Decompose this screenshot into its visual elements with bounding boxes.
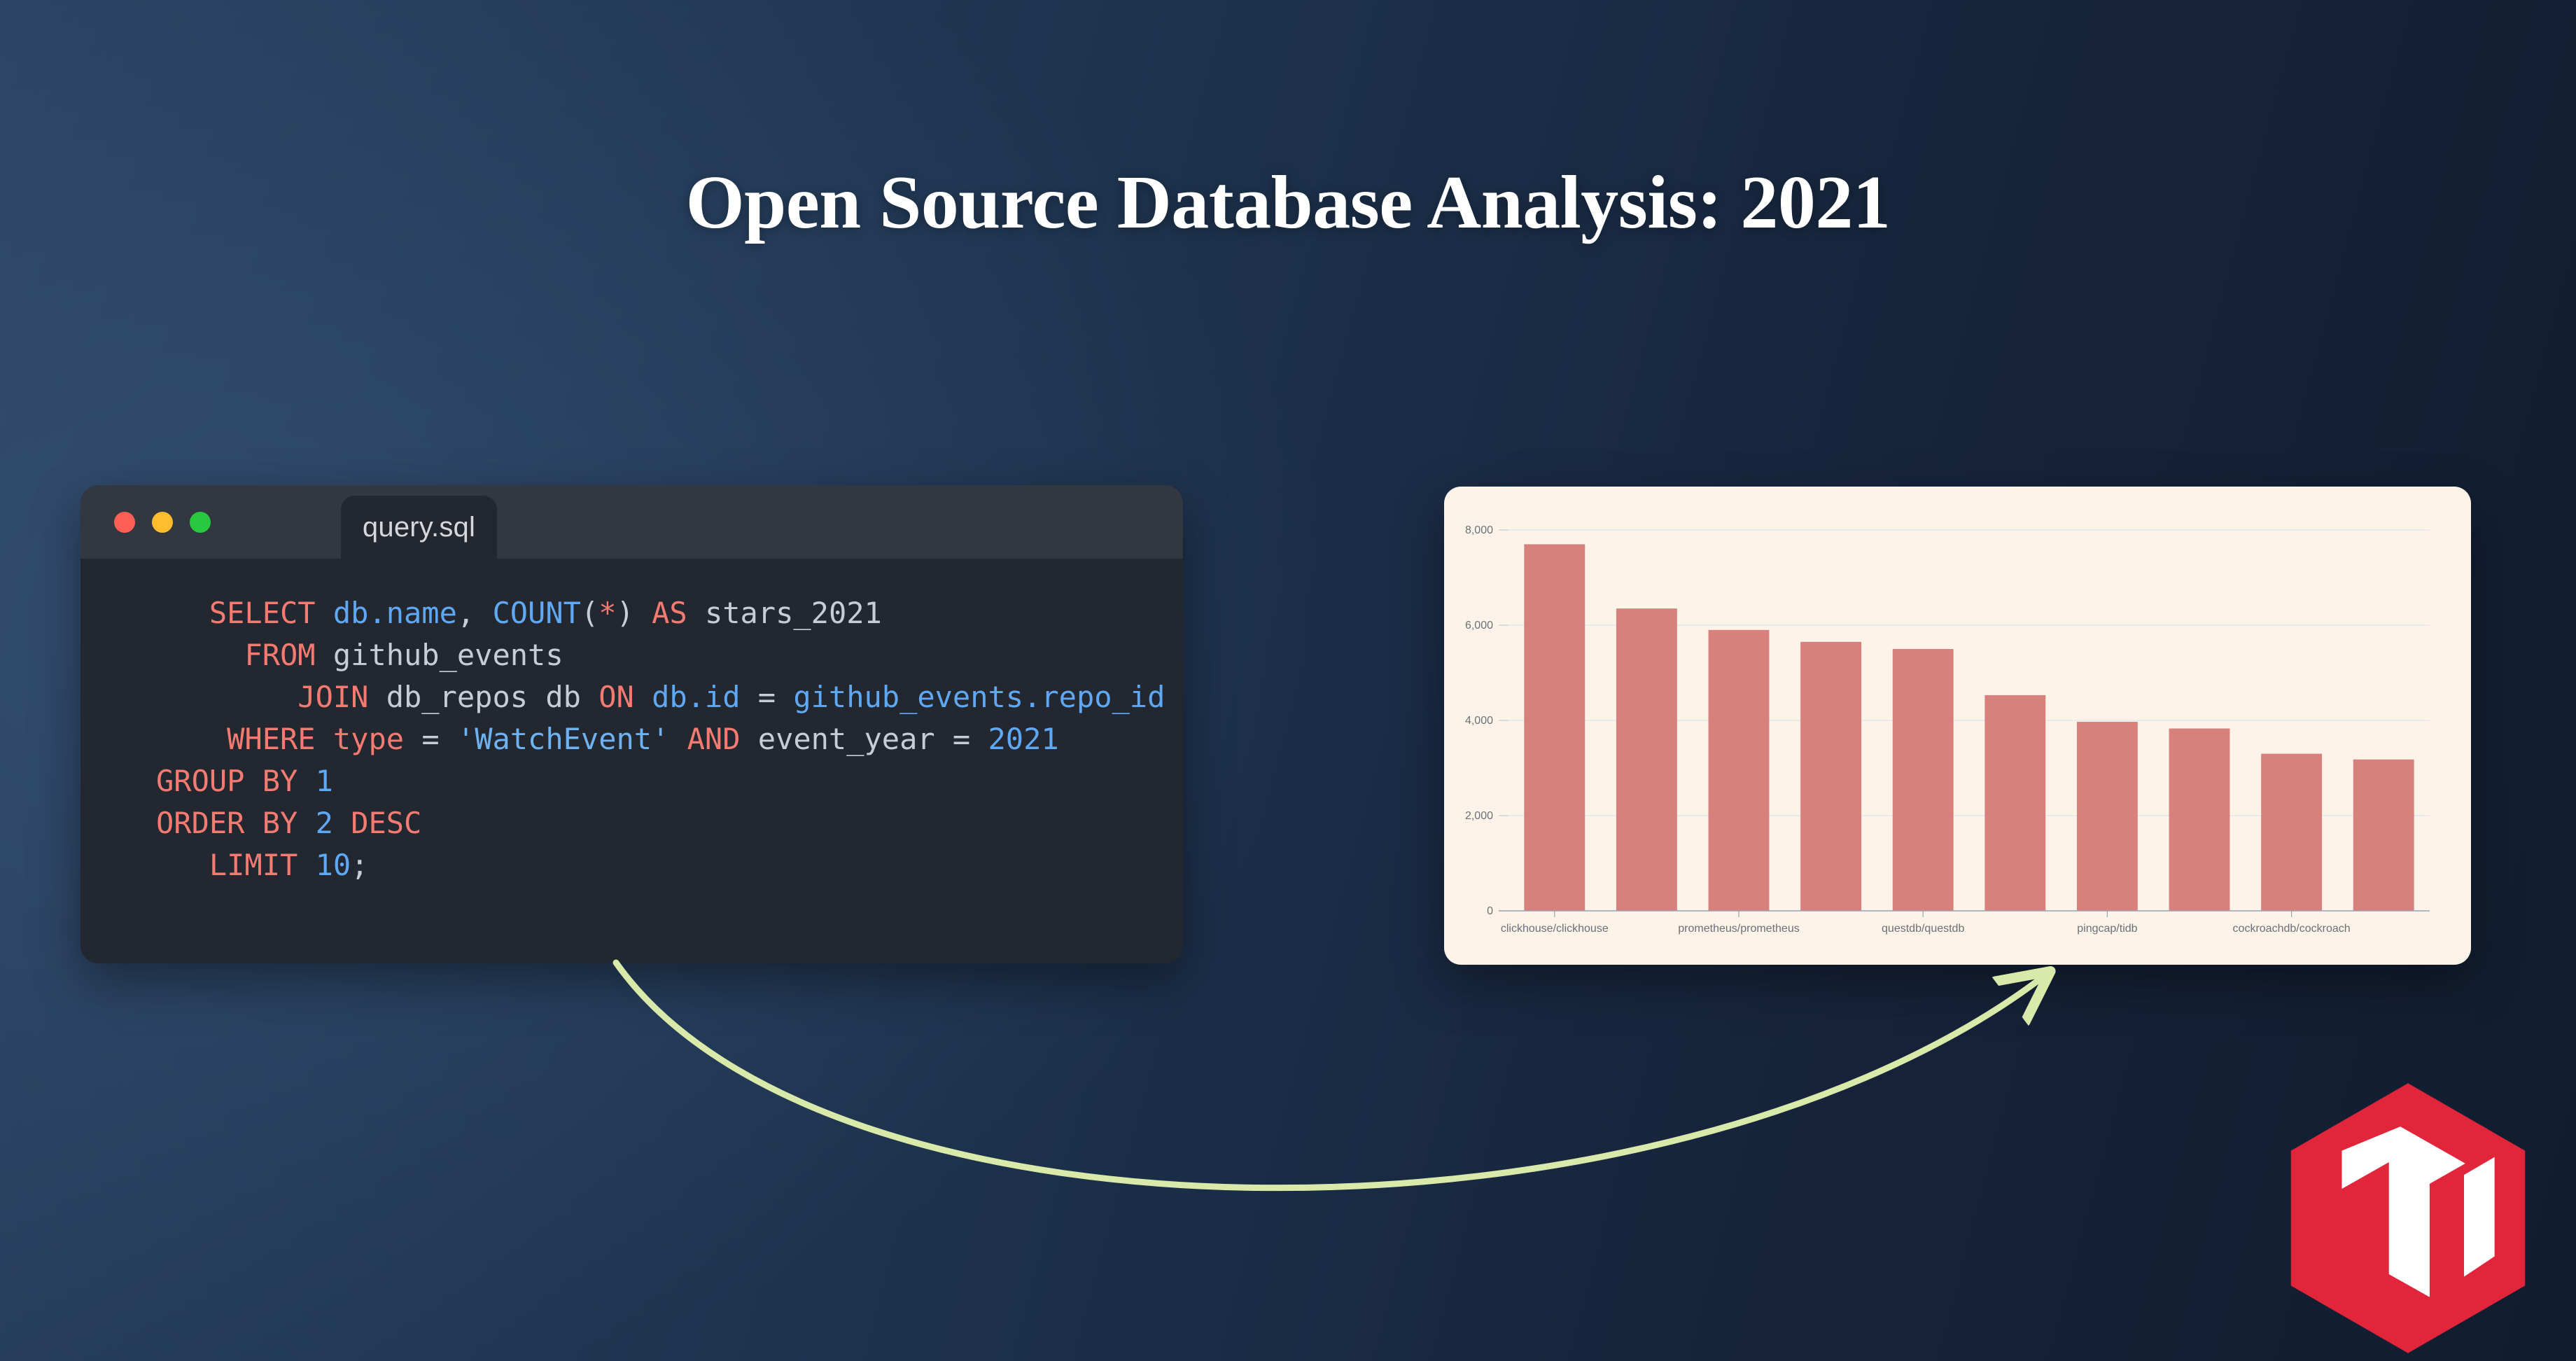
code-token <box>634 680 652 714</box>
chart-bar <box>1984 695 2045 911</box>
code-token: ) <box>617 596 652 630</box>
code-token: SELECT <box>209 596 316 630</box>
code-token <box>156 722 227 756</box>
code-token <box>156 596 209 630</box>
chart-bar <box>1524 544 1585 911</box>
code-token <box>297 764 315 798</box>
tidb-logo <box>2278 1078 2537 1358</box>
code-token: db.id <box>652 680 740 714</box>
code-token: FROM <box>244 638 315 672</box>
code-token <box>156 638 244 672</box>
chart-x-axis: clickhouse/clickhouseprometheus/promethe… <box>1499 911 2430 935</box>
code-token: WHERE <box>227 722 315 756</box>
chart-bar <box>2169 729 2230 911</box>
x-tick-label: cockroachdb/cockroach <box>2233 923 2351 935</box>
code-token <box>156 848 209 882</box>
code-token: JOIN <box>297 680 368 714</box>
y-tick-label: 8,000 <box>1465 524 1493 536</box>
code-token: github_events <box>316 638 563 672</box>
chart-bar <box>1616 608 1677 911</box>
code-token: 1 <box>316 764 333 798</box>
code-token: ON <box>598 680 634 714</box>
chart-bar <box>2077 722 2138 911</box>
code-token: GROUP BY <box>156 764 297 798</box>
chart-bar <box>1893 649 1954 911</box>
code-token: event_year = <box>741 722 988 756</box>
code-token: , <box>457 596 493 630</box>
chart-bar <box>2353 760 2414 911</box>
tab-label: query.sql <box>363 512 475 543</box>
code-token: 10 <box>316 848 351 882</box>
code-token: AS <box>652 596 687 630</box>
code-window-titlebar: query.sql <box>80 485 1183 559</box>
y-tick-label: 6,000 <box>1465 620 1493 631</box>
code-token: * <box>598 596 616 630</box>
code-token: github_events.repo_id <box>793 680 1165 714</box>
maximize-window-icon[interactable] <box>190 512 211 533</box>
chart-bar <box>2261 754 2322 911</box>
code-token: DESC <box>351 806 421 840</box>
y-tick-label: 4,000 <box>1465 715 1493 727</box>
code-token: stars_2021 <box>687 596 882 630</box>
tab-query-sql[interactable]: query.sql <box>341 496 497 559</box>
chart-bars <box>1524 544 2414 911</box>
x-tick-label: pingcap/tidb <box>2077 923 2137 935</box>
y-tick-label: 0 <box>1487 905 1493 917</box>
tidb-mark-i <box>2464 1157 2495 1277</box>
minimize-window-icon[interactable] <box>152 512 173 533</box>
code-token <box>297 806 315 840</box>
code-token: db.name <box>333 596 457 630</box>
code-token <box>156 680 297 714</box>
x-tick-label: clickhouse/clickhouse <box>1501 923 1609 935</box>
x-tick-label: questdb/questdb <box>1882 923 1964 935</box>
y-tick-label: 2,000 <box>1465 810 1493 822</box>
code-token: 'WatchEvent' <box>457 722 669 756</box>
code-editor-body[interactable]: SELECT db.name, COUNT(*) AS stars_2021 F… <box>80 559 1183 963</box>
code-token: = <box>741 680 794 714</box>
code-token: ; <box>351 848 368 882</box>
sql-code-block: SELECT db.name, COUNT(*) AS stars_2021 F… <box>80 592 1183 886</box>
code-token: 2021 <box>988 722 1059 756</box>
page-title: Open Source Database Analysis: 2021 <box>0 160 2576 246</box>
arrow-path <box>616 963 2040 1188</box>
code-token <box>316 722 333 756</box>
chart-panel: 02,0004,0006,0008,000 clickhouse/clickho… <box>1444 487 2471 965</box>
code-token: AND <box>687 722 741 756</box>
chart-bar <box>1709 630 1770 911</box>
code-token: ORDER BY <box>156 806 297 840</box>
bar-chart: 02,0004,0006,0008,000 clickhouse/clickho… <box>1444 487 2471 965</box>
code-token: type <box>333 722 404 756</box>
code-token <box>669 722 687 756</box>
code-token <box>297 848 315 882</box>
chart-bar <box>1800 642 1861 911</box>
code-window: query.sql SELECT db.name, COUNT(*) AS st… <box>80 485 1183 963</box>
chart-y-axis: 02,0004,0006,0008,000 <box>1465 524 1508 917</box>
code-token: db_repos db <box>368 680 598 714</box>
code-token <box>316 596 333 630</box>
code-token: = <box>404 722 457 756</box>
code-token: COUNT <box>492 596 580 630</box>
close-window-icon[interactable] <box>114 512 135 533</box>
code-token <box>333 806 351 840</box>
code-token: LIMIT <box>209 848 297 882</box>
x-tick-label: prometheus/prometheus <box>1678 923 1799 935</box>
traffic-lights <box>114 512 211 533</box>
code-token: 2 <box>316 806 333 840</box>
code-token: ( <box>581 596 598 630</box>
